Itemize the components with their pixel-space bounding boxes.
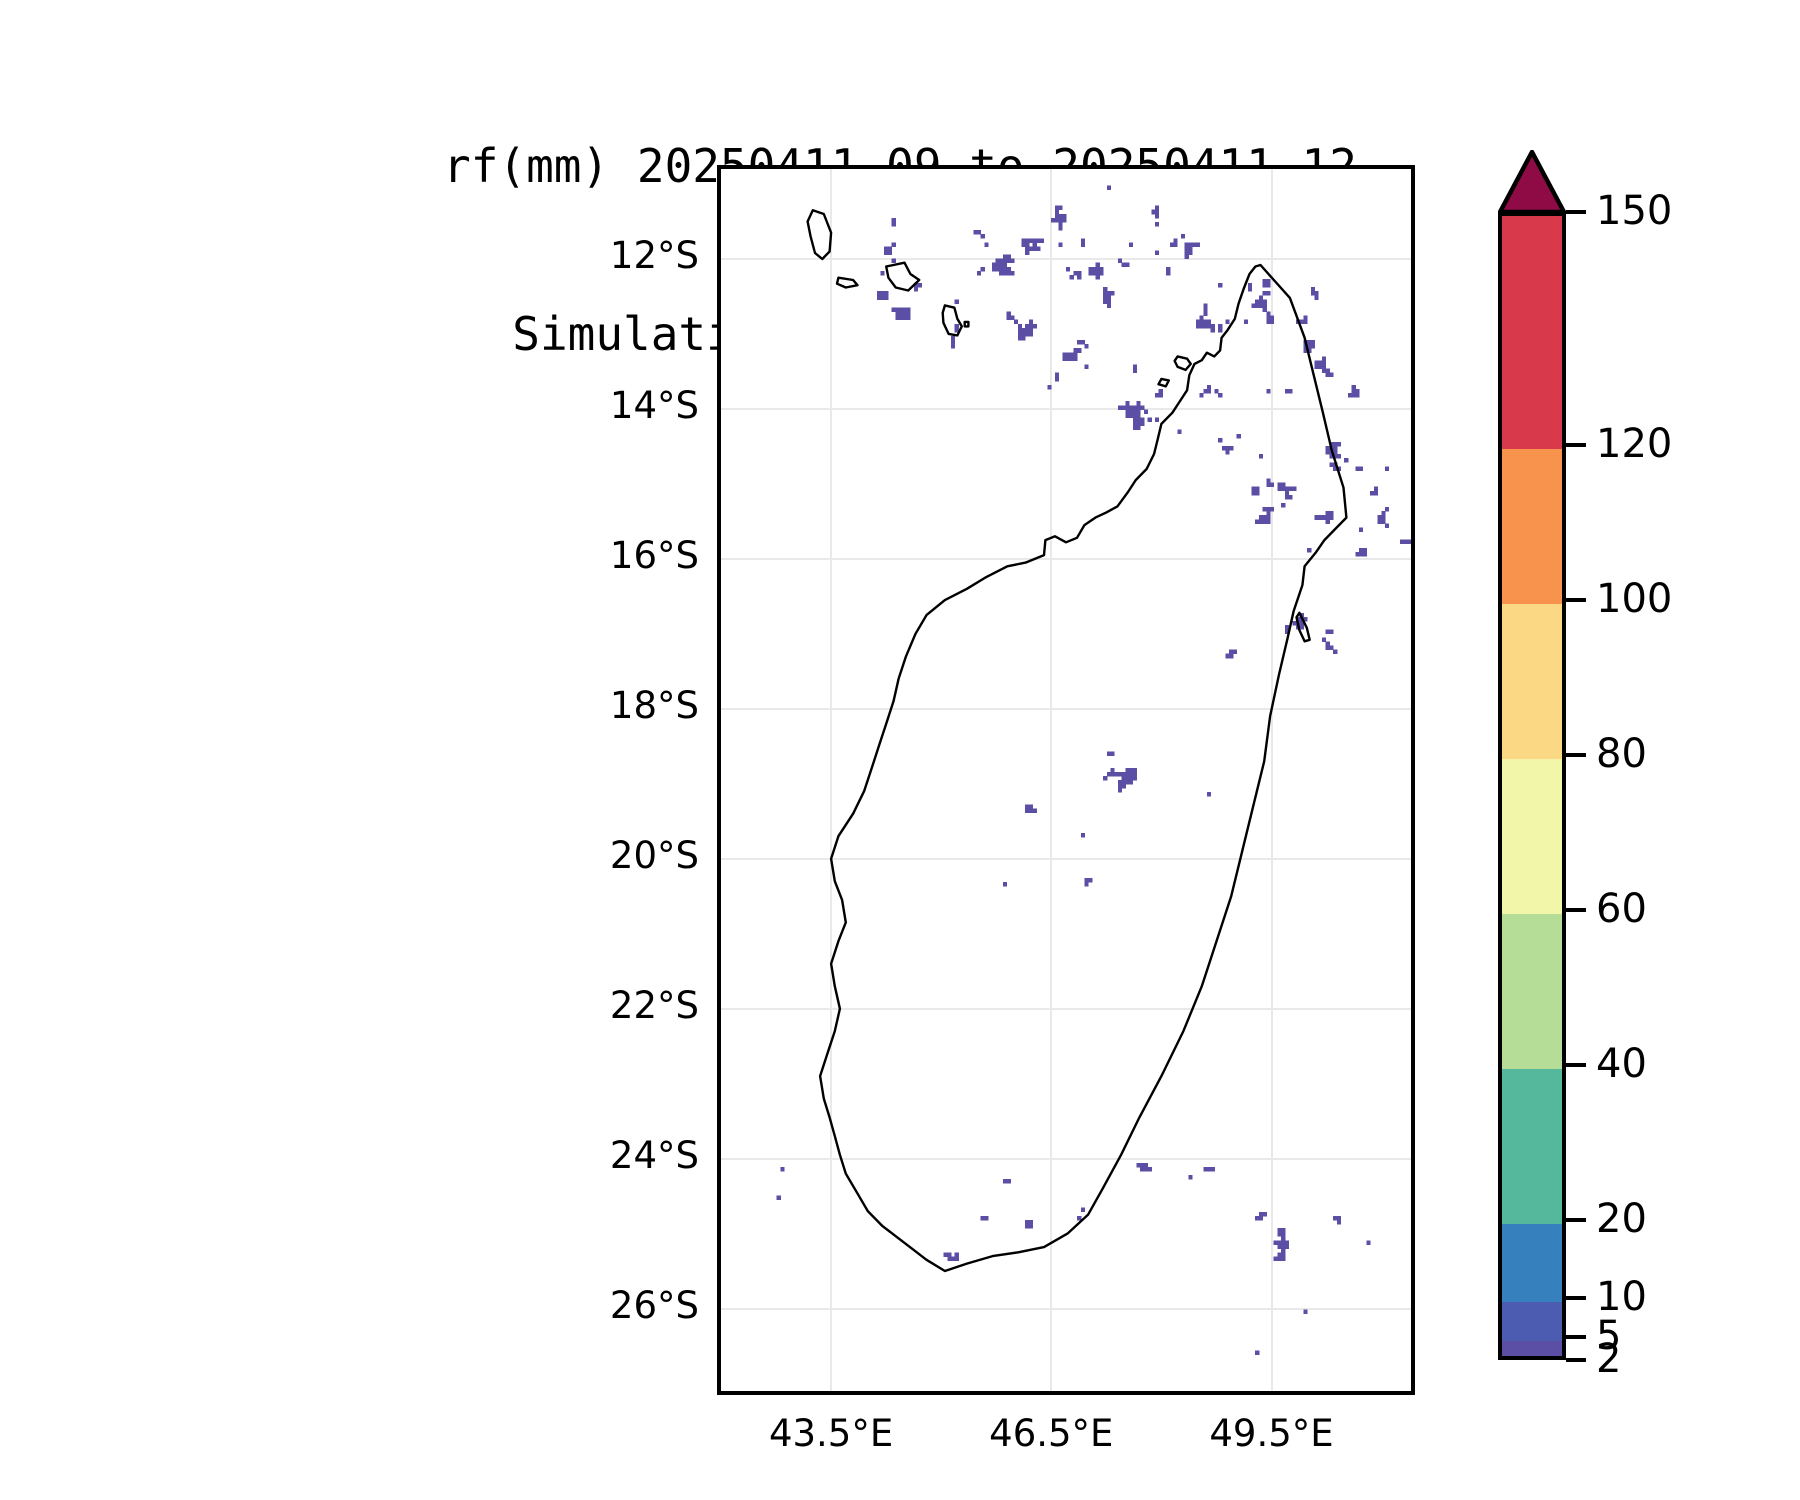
colorbar-band	[1502, 604, 1562, 759]
colorbar-tick-mark	[1566, 598, 1586, 602]
longitude-tick-label: 46.5°E	[941, 1412, 1161, 1455]
colorbar-band	[1502, 1224, 1562, 1302]
coastline-path	[837, 278, 858, 288]
latitude-tick-label: 16°S	[0, 534, 699, 577]
colorbar-tick-label: 80	[1596, 734, 1647, 774]
coastline-path	[965, 322, 969, 327]
colorbar-tick-label: 120	[1596, 424, 1672, 464]
colorbar-tick-mark	[1566, 1335, 1586, 1339]
latitude-tick-label: 14°S	[0, 384, 699, 427]
colorbar-tick-mark	[1566, 1218, 1586, 1222]
colorbar-tick-mark	[1566, 1296, 1586, 1300]
longitude-tick-label: 43.5°E	[721, 1412, 941, 1455]
longitude-tick-label: 49.5°E	[1162, 1412, 1382, 1455]
colorbar-tick-label: 20	[1596, 1199, 1647, 1239]
coastline-path	[943, 305, 962, 335]
rainfall-map	[721, 169, 1411, 1391]
coastline-path	[1175, 356, 1191, 370]
latitude-tick-label: 20°S	[0, 834, 699, 877]
map-axes[interactable]	[717, 165, 1415, 1395]
colorbar-tick-label: 100	[1596, 579, 1672, 619]
colorbar-band	[1502, 1341, 1562, 1360]
colorbar-tick-mark	[1566, 908, 1586, 912]
colorbar-band	[1502, 1302, 1562, 1341]
latitude-tick-label: 22°S	[0, 984, 699, 1027]
colorbar-tick-mark	[1566, 443, 1586, 447]
colorbar-tick-mark	[1566, 1063, 1586, 1067]
colorbar-group[interactable]: 251020406080100120150	[1498, 150, 1798, 1400]
colorbar-band	[1502, 449, 1562, 604]
colorbar-tick-label: 150	[1596, 191, 1672, 231]
coastline-path	[820, 265, 1346, 1271]
colorbar-band	[1502, 759, 1562, 914]
colorbar-band	[1502, 216, 1562, 449]
colorbar-band	[1502, 1069, 1562, 1224]
colorbar-tick-label: 5	[1596, 1316, 1621, 1356]
colorbar-extend-arrow	[1498, 150, 1566, 214]
latitude-tick-label: 18°S	[0, 684, 699, 727]
colorbar-tick-label: 10	[1596, 1277, 1647, 1317]
coastline-path	[808, 210, 832, 259]
colorbar-tick-label: 60	[1596, 889, 1647, 929]
coastline-path	[886, 263, 919, 291]
latitude-tick-label: 24°S	[0, 1134, 699, 1177]
colorbar-tick-mark	[1566, 210, 1586, 214]
colorbar-tick-mark	[1566, 753, 1586, 757]
coastline-path	[1159, 379, 1169, 387]
coastline-layer	[808, 210, 1347, 1271]
map-clip	[721, 169, 1411, 1391]
colorbar-tick-label: 40	[1596, 1044, 1647, 1084]
latitude-tick-label: 26°S	[0, 1284, 699, 1327]
colorbar-tick-mark	[1566, 1358, 1586, 1362]
latitude-tick-label: 12°S	[0, 234, 699, 277]
figure-canvas: rf(mm) 20250411_09 to 20250411_12 Simula…	[0, 0, 1800, 1500]
colorbar[interactable]	[1498, 212, 1566, 1360]
colorbar-band	[1502, 914, 1562, 1069]
